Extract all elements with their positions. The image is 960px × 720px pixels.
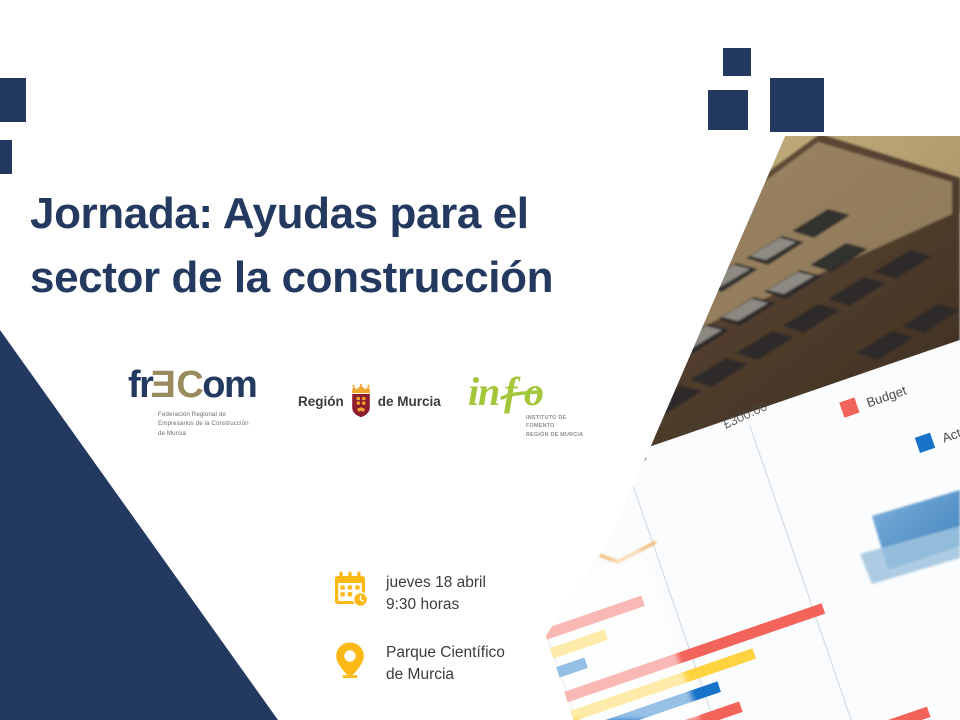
svg-text:n: n [478,372,500,414]
title-line-1: Jornada: Ayudas para el [30,182,670,246]
decorative-square-top-right-2 [708,90,748,130]
frecom-wordmark-tail: om [202,364,256,406]
location-pin-icon [330,640,370,680]
event-location-line-2: de Murcia [386,664,505,686]
logo-row: frECom Federación Regional de Empresario… [128,366,593,439]
info-subtitle: INSTITUTO DE FOMENTO REGIÓN DE MURCIA [526,414,593,439]
logo-info: i n f o INSTITUTO DE FOMENTO REGIÓN DE M… [468,372,593,439]
decorative-square-top-right-1 [723,48,751,76]
logo-frecom: frECom Federación Regional de Empresario… [128,366,268,438]
info-wordmark: i n f o [468,372,578,414]
event-location-text: Parque Científico de Murcia [386,640,505,686]
calendar-clock-icon [330,570,370,610]
frecom-wordmark-c: C [176,364,202,406]
decorative-square-top-left-2 [0,140,12,174]
info-subtitle-line-1: INSTITUTO DE FOMENTO [526,414,593,431]
region-label-left: Región [298,394,344,409]
decorative-square-top-right-3 [770,78,824,132]
poster-canvas: £250.00 £275.00 £300.00 Budget Actual [0,0,960,720]
event-date-text: jueves 18 abril 9:30 horas [386,570,486,616]
region-label-right: de Murcia [378,394,441,409]
frecom-wordmark-mirrored-e: E [152,366,176,404]
frecom-wordmark-lead: fr [128,364,152,406]
frecom-subtitle-line-2: Empresarios de la Construcción [158,419,268,428]
title-line-2: sector de la construcción [30,246,670,310]
frecom-subtitle: Federación Regional de Empresarios de la… [158,410,268,438]
decorative-square-top-left-1 [0,78,26,122]
logo-region-de-murcia: Región [298,384,438,418]
svg-text:£250.00: £250.00 [500,502,530,535]
frecom-subtitle-line-3: de Murcia [158,429,268,438]
event-details: jueves 18 abril 9:30 horas Parque Cientí… [330,570,505,710]
region-crowned-shield-icon [349,384,373,418]
page-title: Jornada: Ayudas para el sector de la con… [30,182,670,310]
event-date-line-2: 9:30 horas [386,594,486,616]
frecom-subtitle-line-1: Federación Regional de [158,410,268,419]
event-location-item: Parque Científico de Murcia [330,640,505,686]
frecom-wordmark: frECom [128,366,268,404]
event-date-line-1: jueves 18 abril [386,572,486,594]
event-location-line-1: Parque Científico [386,642,505,664]
event-date-item: jueves 18 abril 9:30 horas [330,570,505,616]
info-subtitle-line-2: REGIÓN DE MURCIA [526,431,593,439]
